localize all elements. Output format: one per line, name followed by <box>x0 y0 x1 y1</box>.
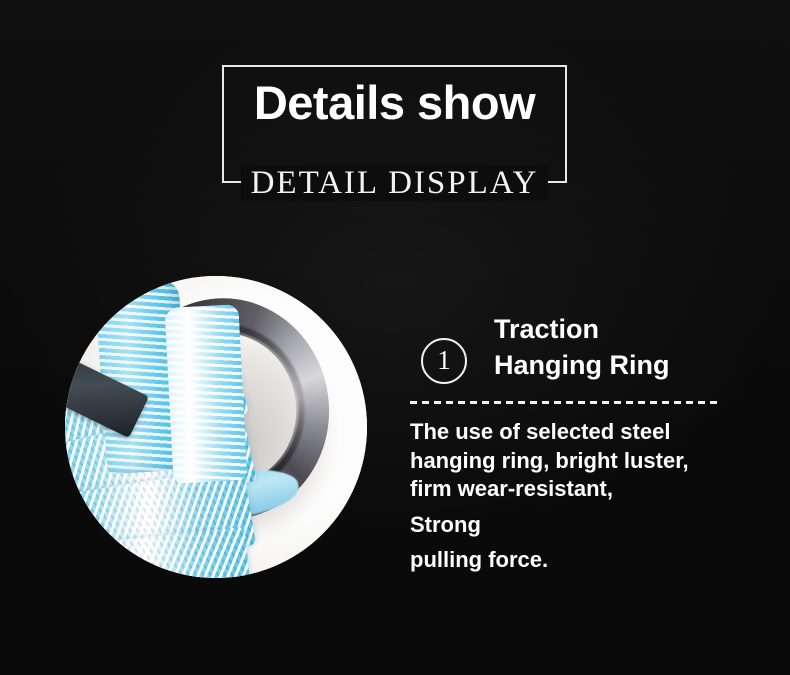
description-line: The use of selected steel <box>410 418 770 447</box>
product-photo <box>65 276 367 578</box>
description-line: hanging ring, bright luster, <box>410 447 770 476</box>
page-subtitle-text: DETAIL DISPLAY <box>241 165 549 201</box>
page-title: Details show <box>222 79 567 126</box>
description-line: Strong <box>410 511 770 540</box>
feature-title: Traction Hanging Ring <box>494 312 748 383</box>
feature-block: 1 Traction Hanging Ring The use of selec… <box>408 312 748 390</box>
feature-description: The use of selected steel hanging ring, … <box>410 418 770 575</box>
feature-number-badge: 1 <box>421 338 467 384</box>
photo-backdrop <box>65 276 367 578</box>
frame-border-top <box>222 65 567 67</box>
description-line: pulling force. <box>410 546 770 575</box>
description-line: firm wear-resistant, <box>410 475 770 504</box>
webbing-loop <box>164 304 247 484</box>
feature-heading: 1 Traction Hanging Ring <box>408 312 748 390</box>
feature-title-line-1: Traction <box>494 312 748 348</box>
page-subtitle: DETAIL DISPLAY <box>222 167 567 200</box>
dashed-divider <box>410 401 720 404</box>
header-frame: Details show DETAIL DISPLAY <box>222 65 567 183</box>
feature-title-line-2: Hanging Ring <box>494 348 748 384</box>
product-detail-banner: Details show DETAIL DISPLAY 1 Tract <box>0 0 790 675</box>
